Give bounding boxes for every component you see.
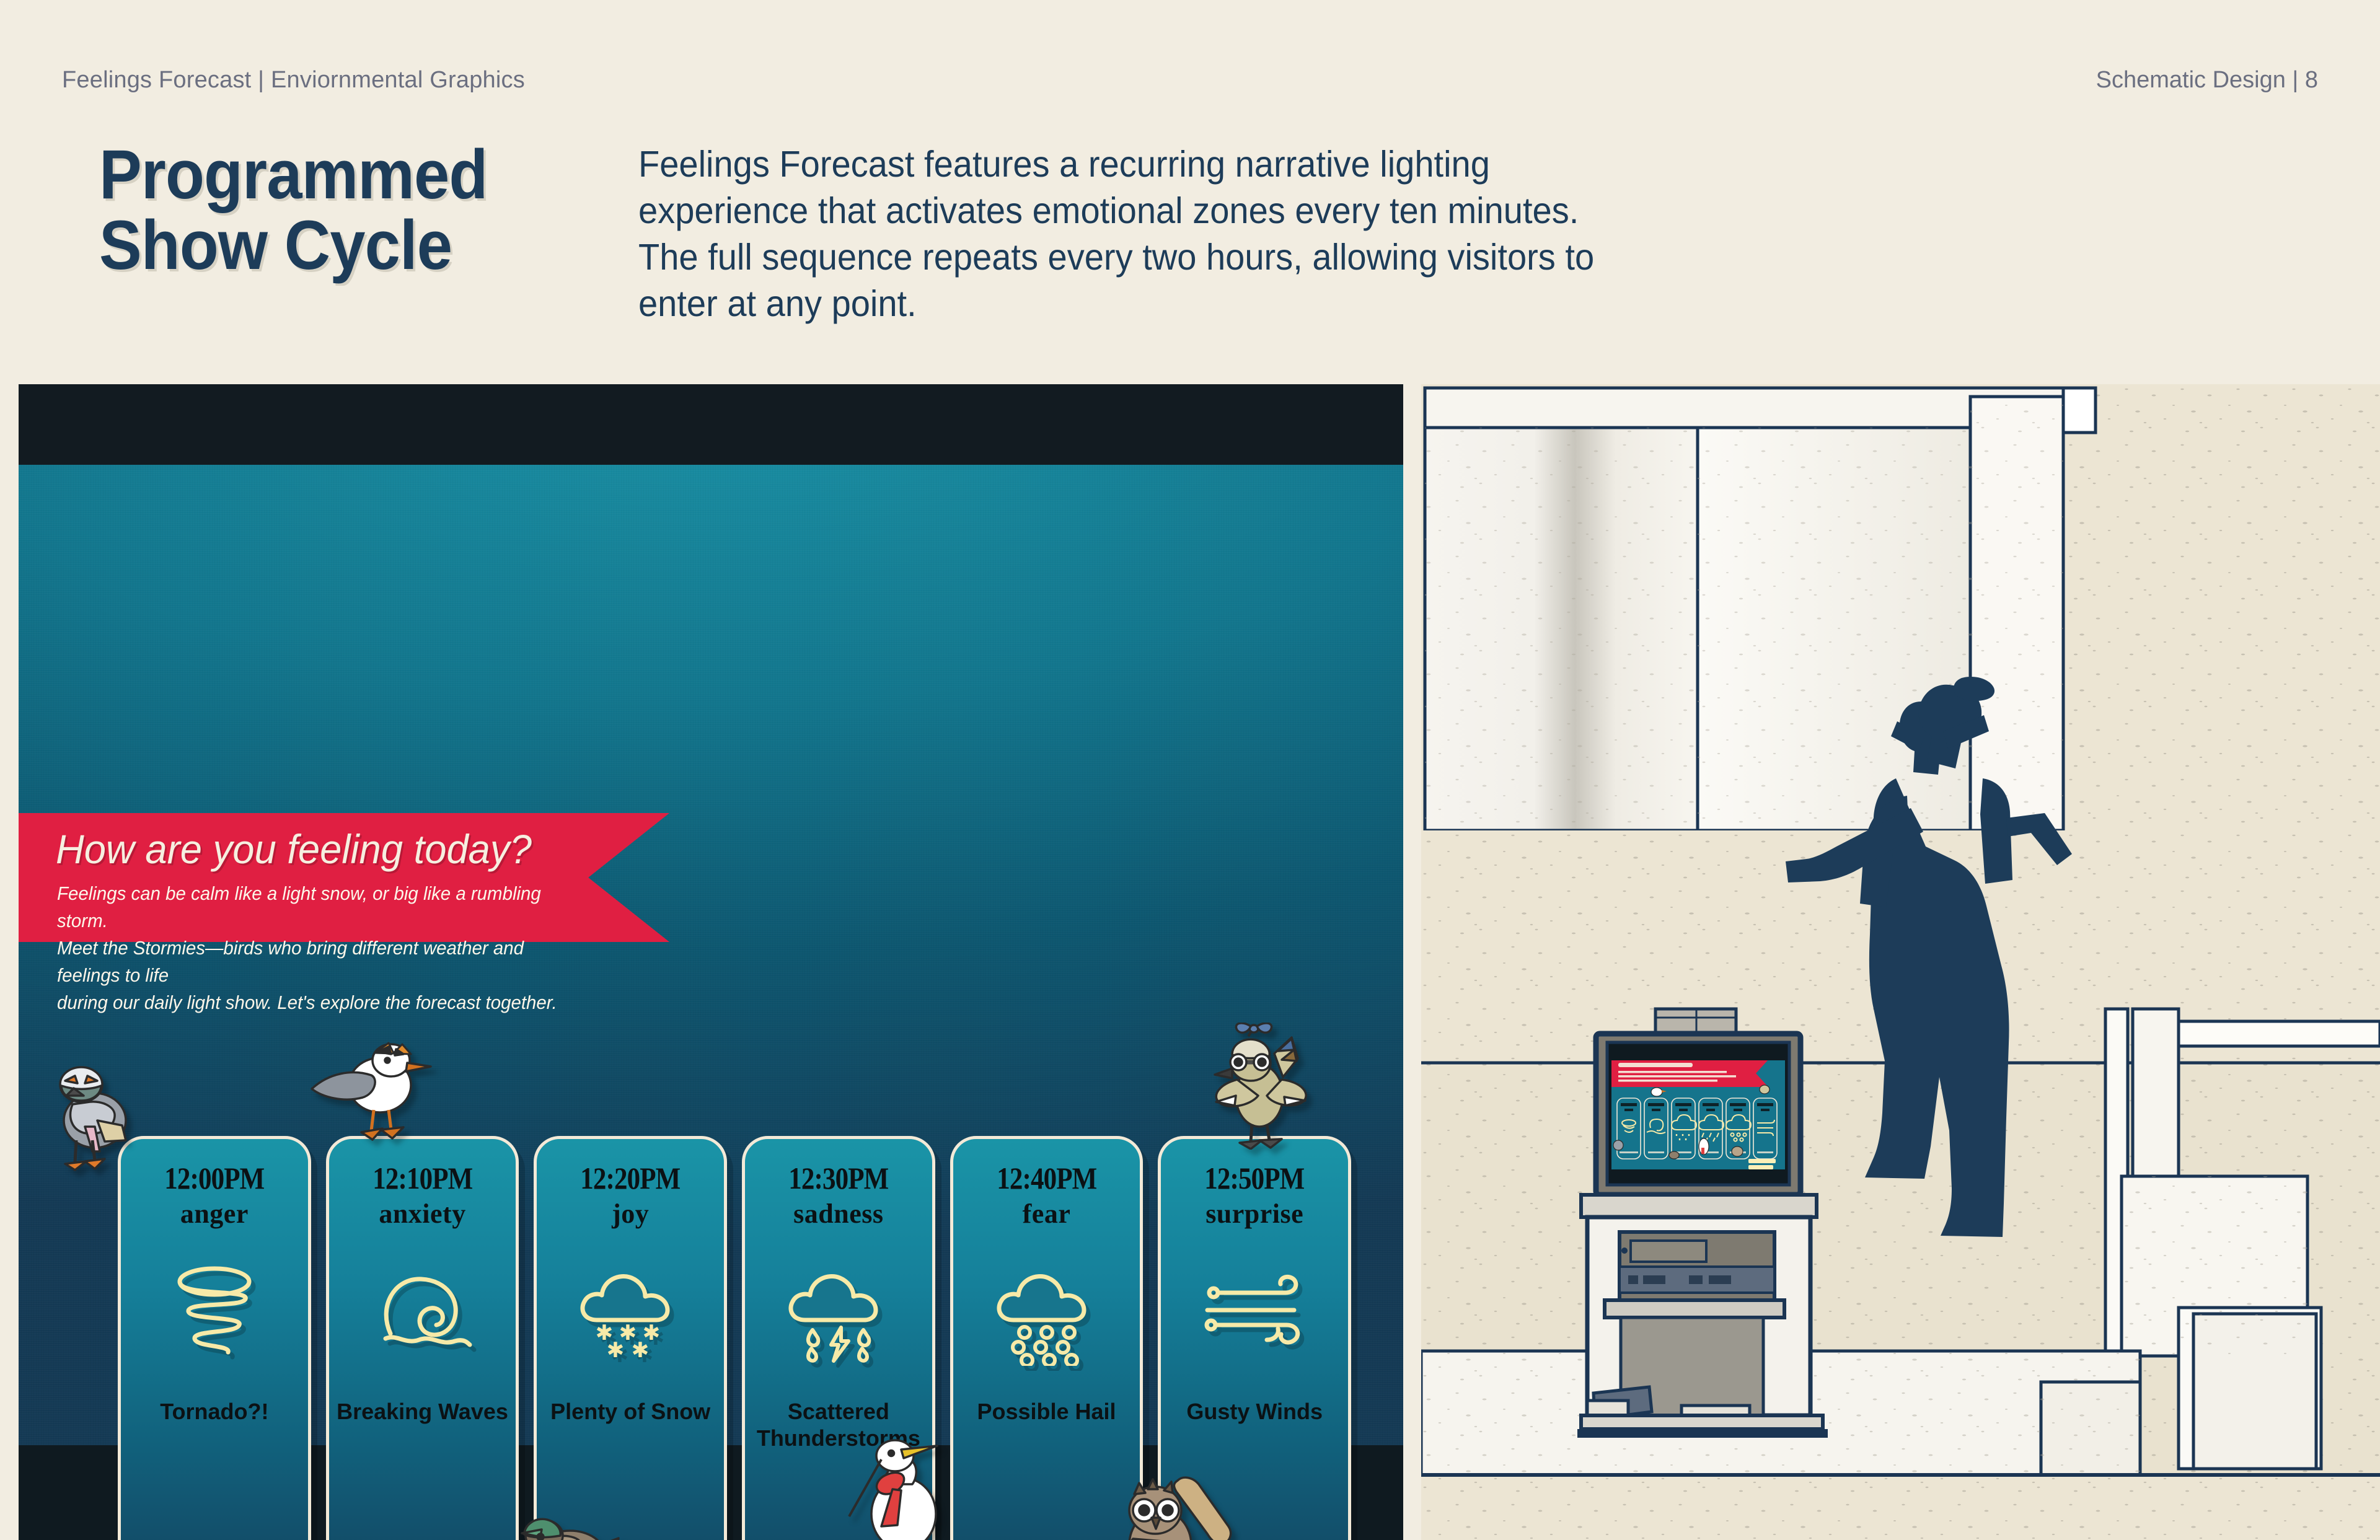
card-time: 12:40PM [966, 1160, 1127, 1196]
hail-cloud-icon [985, 1261, 1109, 1366]
card-emotion: joy [537, 1198, 724, 1230]
page-title-line-1: Programmed [99, 139, 487, 210]
header-project-label: Feelings Forecast | Enviornmental Graphi… [62, 67, 525, 94]
card-emotion: anxiety [329, 1198, 516, 1230]
environmental-graphic-panel: How are you feeling today? Feelings can … [19, 384, 1407, 1540]
feelings-forecast-kiosk [1577, 1009, 1828, 1438]
forecast-card[interactable]: 12:00PM anger Tornado?! science inquiry … [118, 1136, 311, 1540]
rendering-vector [1421, 384, 2380, 1540]
banner-subcopy-line-1: Feelings can be calm like a light snow, … [57, 880, 575, 935]
tornado-icon [152, 1261, 276, 1366]
card-condition: Scattered Thunderstorms [751, 1398, 926, 1451]
panel-left-rule [0, 384, 4, 1540]
forecast-card[interactable]: 12:10PM anxiety Breaking Waves beach [326, 1136, 519, 1540]
kiosk-elevation-rendering [1421, 384, 2380, 1540]
forecast-card[interactable]: 12:20PM joy ✱ ✱ ✱ ✱ ✱ Plenty of Snow pon… [534, 1136, 727, 1540]
card-emotion: sadness [745, 1198, 932, 1230]
card-condition: Possible Hail [959, 1398, 1134, 1425]
card-condition: Breaking Waves [335, 1398, 510, 1425]
card-time: 12:00PM [134, 1160, 294, 1196]
forecast-card[interactable]: 12:30PM sadness Scattered Thunderstorms … [742, 1136, 935, 1540]
card-condition: Tornado?! [127, 1398, 302, 1425]
banner-headline: How are you feeling today? [56, 825, 532, 873]
thunderstorm-cloud-icon [777, 1261, 901, 1366]
banner-subcopy-line-2: Meet the Stormies—birds who bring differ… [57, 935, 575, 989]
card-emotion: surprise [1161, 1198, 1348, 1230]
card-time: 12:30PM [758, 1160, 919, 1196]
svg-text:✱: ✱ [632, 1338, 650, 1363]
intro-paragraph: Feelings Forecast features a recurring n… [638, 141, 1604, 327]
forecast-card-row: 12:00PM anger Tornado?! science inquiry … [118, 1136, 1351, 1540]
slide-header: Feelings Forecast | Enviornmental Graphi… [0, 0, 2380, 384]
page-title-line-2: Show Cycle [99, 210, 487, 281]
card-time: 12:10PM [342, 1160, 503, 1196]
panel-top-band [19, 384, 1407, 465]
forecast-card[interactable]: 12:40PM fear Possible Hail urban woodlan… [950, 1136, 1144, 1540]
card-emotion: fear [953, 1198, 1140, 1230]
wind-icon [1192, 1261, 1316, 1366]
card-time: 12:20PM [550, 1160, 710, 1196]
card-condition: Plenty of Snow [543, 1398, 718, 1425]
banner-subcopy-line-3: during our daily light show. Let's explo… [57, 989, 575, 1016]
svg-text:✱: ✱ [607, 1338, 625, 1363]
card-condition: Gusty Winds [1167, 1398, 1342, 1425]
banner-subcopy: Feelings can be calm like a light snow, … [57, 880, 575, 1016]
forecast-card[interactable]: 12:50PM surprise Gusty Winds community g… [1158, 1136, 1351, 1540]
page-title: Programmed Show Cycle [99, 139, 487, 281]
card-emotion: anger [121, 1198, 308, 1230]
card-time: 12:50PM [1174, 1160, 1334, 1196]
question-banner-text-group: How are you feeling today? Feelings can … [19, 813, 669, 942]
panel-right-rule [1403, 384, 1407, 1540]
snow-cloud-icon: ✱ ✱ ✱ ✱ ✱ [568, 1261, 692, 1366]
header-phase-label: Schematic Design | 8 [2096, 67, 2318, 94]
wave-icon [361, 1261, 485, 1366]
